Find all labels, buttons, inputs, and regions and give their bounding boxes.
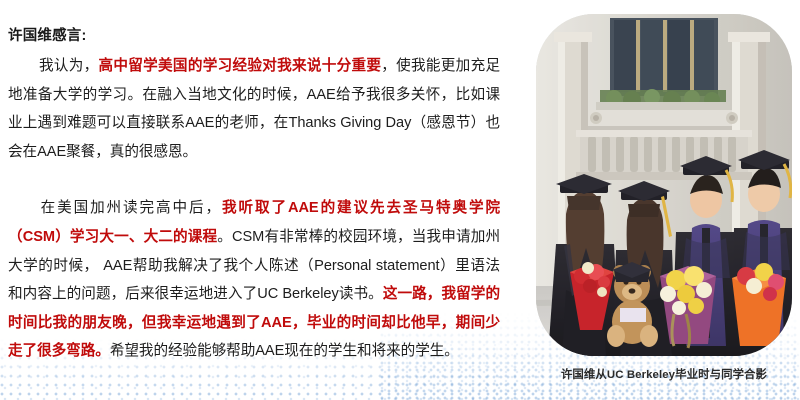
paragraph-2-run-5: 希望我的经验能够帮助AAE现在的学生和将来的学生。	[110, 343, 459, 359]
testimonial-text-column: 许国维感言: 我认为，高中留学美国的学习经验对我来说十分重要，使我能更加充足地准…	[8, 26, 500, 366]
paragraph-1: 我认为，高中留学美国的学习经验对我来说十分重要，使我能更加充足地准备大学的学习。…	[8, 52, 500, 166]
graduation-photo-frame	[536, 14, 792, 356]
graduation-photo	[536, 14, 792, 356]
paragraph-2-run-1: 在美国加州读完高中后，	[39, 200, 222, 216]
graduation-photo-image	[536, 14, 792, 356]
photo-caption: 许国维从UC Berkeley毕业时与同学合影	[536, 366, 792, 382]
paragraph-2: 在美国加州读完高中后，我听取了AAE的建议先去圣马特奥学院（CSM）学习大一、大…	[8, 194, 500, 366]
paragraph-1-run-1: 我认为，	[39, 58, 99, 74]
paragraph-1-run-2-highlight: 高中留学美国的学习经验对我来说十分重要	[99, 58, 382, 74]
page-title: 许国维感言:	[8, 26, 500, 46]
